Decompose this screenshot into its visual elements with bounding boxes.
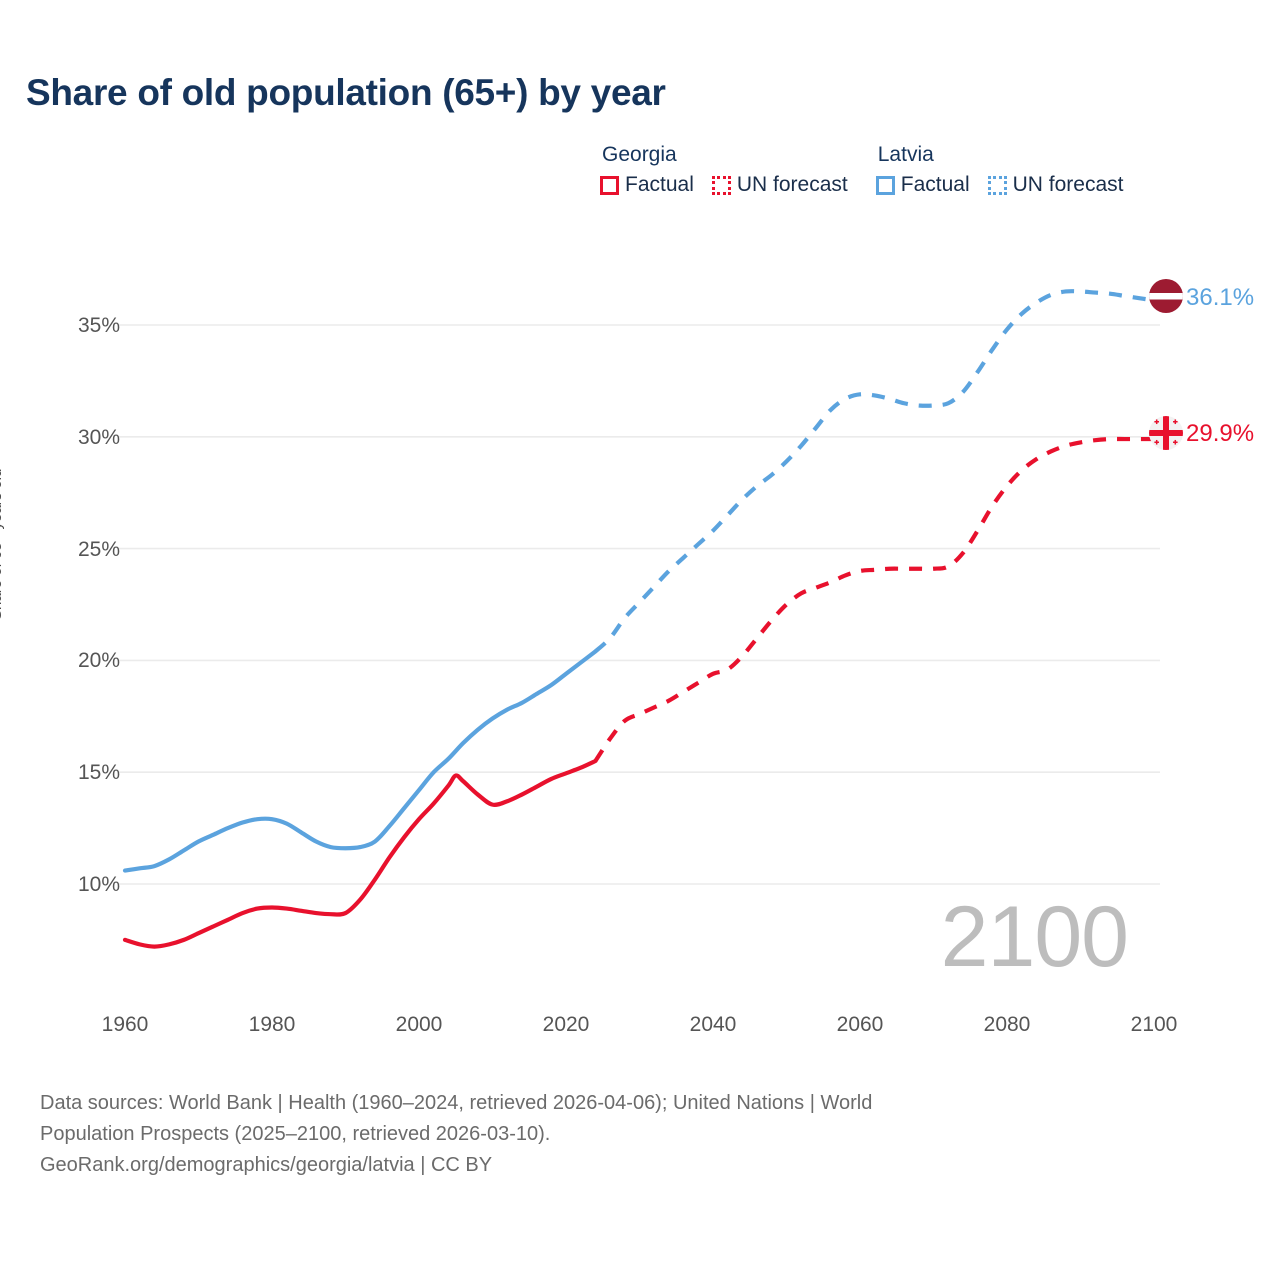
end-label-georgia: 29.9%	[1186, 420, 1254, 448]
x-tick-label: 2080	[984, 1013, 1031, 1037]
x-tick-label: 2020	[543, 1013, 590, 1037]
y-tick-label: 25%	[48, 538, 120, 562]
georgia-flag-icon	[1149, 416, 1183, 450]
chart-root: Share of old population (65+) by year Ge…	[0, 0, 1280, 1280]
y-tick-label: 10%	[48, 873, 120, 897]
y-tick-label: 20%	[48, 649, 120, 673]
x-tick-label: 2060	[837, 1013, 884, 1037]
footer-line-3: GeoRank.org/demographics/georgia/latvia …	[40, 1150, 1240, 1181]
footer-line-1: Data sources: World Bank | Health (1960–…	[40, 1088, 1240, 1119]
end-label-latvia: 36.1%	[1186, 284, 1254, 312]
y-tick-label: 35%	[48, 314, 120, 338]
y-tick-label: 30%	[48, 426, 120, 450]
x-tick-label: 1980	[249, 1013, 296, 1037]
x-tick-label: 1960	[102, 1013, 149, 1037]
y-tick-label: 15%	[48, 761, 120, 785]
latvia-flag-icon	[1149, 279, 1183, 313]
footer-line-2: Population Prospects (2025–2100, retriev…	[40, 1119, 1240, 1150]
x-tick-label: 2000	[396, 1013, 443, 1037]
x-tick-label: 2040	[690, 1013, 737, 1037]
footer-sources: Data sources: World Bank | Health (1960–…	[40, 1088, 1240, 1181]
year-watermark: 2100	[941, 888, 1128, 987]
x-tick-label: 2100	[1131, 1013, 1178, 1037]
